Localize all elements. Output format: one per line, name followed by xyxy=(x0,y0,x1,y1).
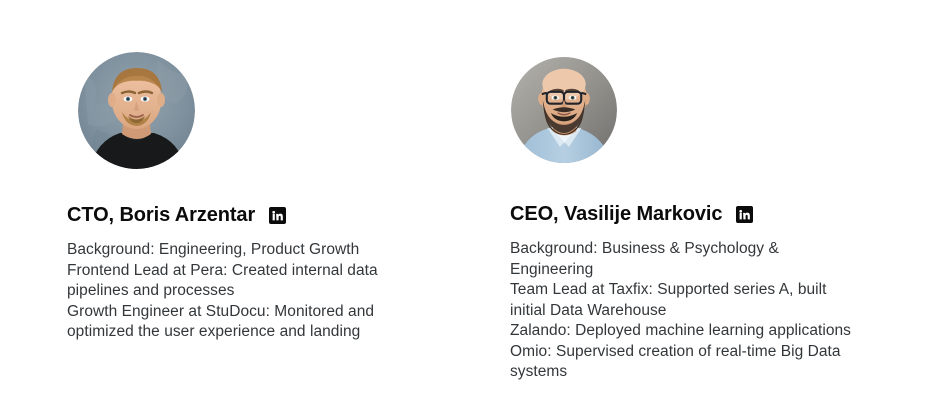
bio-line: Team Lead at Taxfix: Supported series A,… xyxy=(510,280,858,321)
profile-name-row: CEO, Vasilije Markovic xyxy=(510,202,910,226)
team-profiles-section: CTO, Boris Arzentar Background: Engineer… xyxy=(0,0,948,412)
bio-line: Zalando: Deployed machine learning appli… xyxy=(510,321,858,342)
bio-line: Omio: Supervised creation of real-time B… xyxy=(510,342,858,383)
profile-card-vasilije: CEO, Vasilije Markovic Background: Busin… xyxy=(510,52,910,383)
profile-bio: Background: Engineering, Product Growth … xyxy=(67,240,412,343)
avatar-photo-vasilije xyxy=(511,52,617,168)
profile-name: CTO, Boris Arzentar xyxy=(67,203,255,227)
linkedin-icon[interactable] xyxy=(736,206,753,223)
profile-bio: Background: Business & Psychology & Engi… xyxy=(510,239,858,383)
linkedin-icon[interactable] xyxy=(269,207,286,224)
avatar-photo-boris xyxy=(78,52,195,169)
profile-card-boris: CTO, Boris Arzentar Background: Engineer… xyxy=(67,52,467,343)
bio-line: Background: Business & Psychology & Engi… xyxy=(510,239,858,280)
bio-line: Frontend Lead at Pera: Created internal … xyxy=(67,261,412,302)
bio-line: Background: Engineering, Product Growth xyxy=(67,240,412,261)
profile-name-row: CTO, Boris Arzentar xyxy=(67,203,467,227)
profile-name: CEO, Vasilije Markovic xyxy=(510,202,722,226)
bio-line: Growth Engineer at StuDocu: Monitored an… xyxy=(67,302,412,343)
